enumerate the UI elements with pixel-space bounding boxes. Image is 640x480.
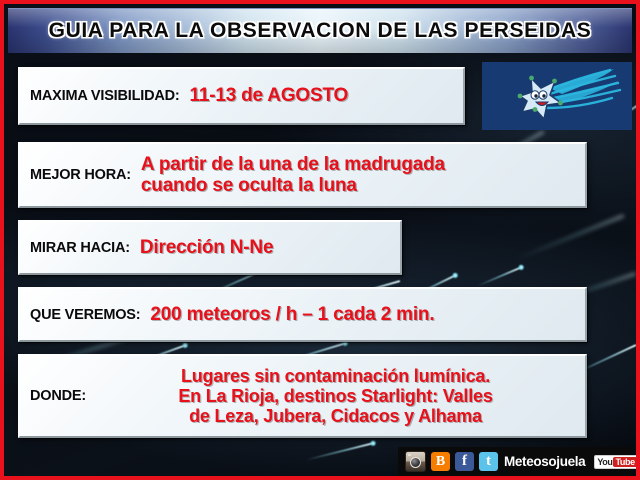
- row-label: MIRAR HACIA:: [30, 240, 130, 256]
- twitter-icon[interactable]: t: [479, 452, 498, 471]
- row-value: Lugares sin contaminación lumínica. En L…: [96, 366, 575, 426]
- perseids-observation-guide-poster: GUIA PARA LA OBSERVACION DE LAS PERSEIDA…: [0, 0, 640, 480]
- youtube-you-text: You: [597, 457, 612, 467]
- youtube-tube-text: Tube: [613, 457, 636, 467]
- row-value-line: A partir de la una de la madrugada: [141, 154, 445, 175]
- facebook-icon[interactable]: f: [455, 452, 474, 471]
- row-value: A partir de la una de la madrugada cuand…: [141, 154, 445, 197]
- blogger-icon[interactable]: B: [431, 452, 450, 471]
- info-row-que-veremos: QUE VEREMOS: 200 meteoros / h – 1 cada 2…: [18, 287, 587, 342]
- social-media-bar: B f t Meteosojuela You Tube: [398, 447, 632, 476]
- meteor-streak: [478, 266, 523, 286]
- instagram-icon[interactable]: [405, 451, 426, 472]
- title-banner: GUIA PARA LA OBSERVACION DE LAS PERSEIDA…: [8, 8, 632, 53]
- row-label: MAXIMA VISIBILIDAD:: [30, 88, 180, 104]
- instagram-lens: [410, 457, 421, 468]
- page-title: GUIA PARA LA OBSERVACION DE LAS PERSEIDA…: [49, 19, 592, 43]
- row-value-line: cuando se oculta la luna: [141, 175, 357, 196]
- meteor-streak: [306, 442, 374, 460]
- meteor-streak: [512, 214, 624, 262]
- shooting-star-graphic: [482, 62, 632, 130]
- row-label: MEJOR HORA:: [30, 167, 131, 183]
- info-row-mirar-hacia: MIRAR HACIA: Dirección N-Ne: [18, 220, 402, 275]
- info-row-maxima-visibilidad: MAXIMA VISIBILIDAD: 11-13 de AGOSTO: [18, 67, 465, 125]
- info-row-mejor-hora: MEJOR HORA: A partir de la una de la mad…: [18, 142, 587, 208]
- shooting-star-logo: [482, 62, 632, 130]
- brand-name: Meteosojuela: [504, 454, 585, 469]
- row-value: 200 meteoros / h – 1 cada 2 min.: [150, 304, 434, 325]
- row-value: 11-13 de AGOSTO: [190, 85, 349, 106]
- row-value-line: Lugares sin contaminación lumínica.: [181, 366, 490, 386]
- youtube-icon[interactable]: You Tube: [594, 455, 639, 469]
- row-value: Dirección N-Ne: [140, 237, 273, 258]
- row-label: DONDE:: [30, 388, 86, 404]
- info-row-donde: DONDE: Lugares sin contaminación lumínic…: [18, 354, 587, 438]
- row-label: QUE VEREMOS:: [30, 307, 140, 323]
- row-value-line: En La Rioja, destinos Starlight: Valles: [178, 386, 492, 406]
- row-value-line: de Leza, Jubera, Cidacos y Alhama: [189, 406, 482, 426]
- instagram-flash: [408, 454, 411, 456]
